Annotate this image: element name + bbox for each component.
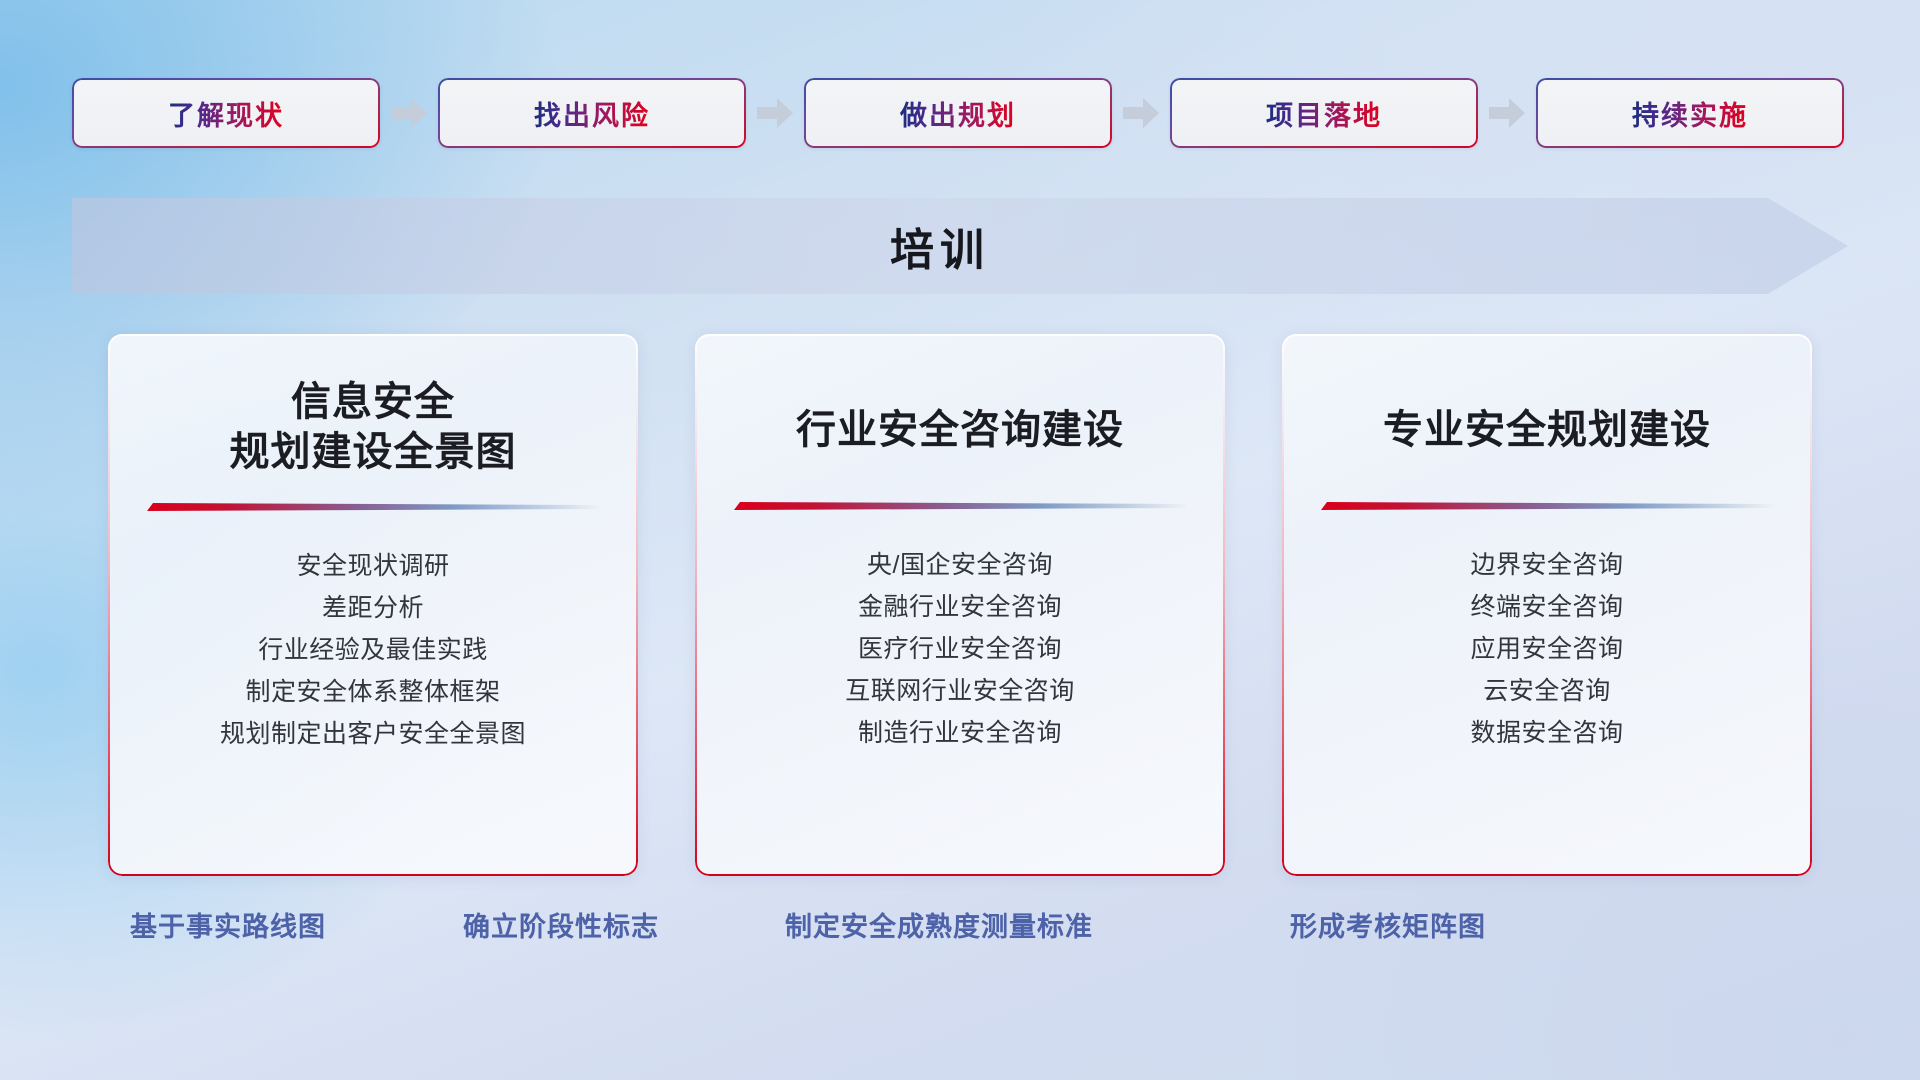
step-arrow-icon-1 [380,78,438,148]
list-item: 金融行业安全咨询 [729,586,1191,628]
slide-canvas: 了解现状 找出风险 做出规划 项目落地 [0,0,1920,1080]
step-arrow-icon-3 [1112,78,1170,148]
list-item: 边界安全咨询 [1316,544,1778,586]
step-label: 做出规划 [900,94,1016,133]
list-item: 云安全咨询 [1316,670,1778,712]
banner-title: 培训 [72,198,1848,294]
list-item: 制造行业安全咨询 [729,712,1191,754]
list-item: 差距分析 [142,587,604,629]
list-item: 行业经验及最佳实践 [142,629,604,671]
card-title: 专业安全规划建设 [1383,406,1711,456]
training-banner: 培训 [72,198,1848,294]
list-item: 制定安全体系整体框架 [142,671,604,713]
step-box-3[interactable]: 做出规划 [804,78,1112,148]
step-box-5[interactable]: 持续实施 [1536,78,1844,148]
list-item: 央/国企安全咨询 [729,544,1191,586]
footer-caption-1: 基于事实路线图 [130,905,326,944]
step-box-4[interactable]: 项目落地 [1170,78,1478,148]
card-3[interactable]: 专业安全规划建设 [1282,334,1812,876]
step-box-1[interactable]: 了解现状 [72,78,380,148]
footer-caption-3: 制定安全成熟度测量标准 [785,905,1093,944]
list-item: 医疗行业安全咨询 [729,628,1191,670]
card-title: 信息安全 规划建设全景图 [230,378,517,477]
list-item: 安全现状调研 [142,545,604,587]
list-item: 应用安全咨询 [1316,628,1778,670]
card-1[interactable]: 信息安全 规划建设全景图 [108,334,638,876]
step-label: 了解现状 [168,94,284,133]
card-row: 信息安全 规划建设全景图 [108,334,1812,876]
card-list: 央/国企安全咨询 金融行业安全咨询 医疗行业安全咨询 互联网行业安全咨询 制造行… [729,544,1191,754]
footer-caption-2: 确立阶段性标志 [463,905,659,944]
footer-caption-4: 形成考核矩阵图 [1290,905,1486,944]
step-label: 项目落地 [1266,94,1382,133]
step-arrow-icon-4 [1478,78,1536,148]
step-label: 持续实施 [1632,94,1748,133]
process-steps: 了解现状 找出风险 做出规划 项目落地 [72,78,1848,148]
card-divider [734,498,1186,514]
list-item: 互联网行业安全咨询 [729,670,1191,712]
list-item: 数据安全咨询 [1316,712,1778,754]
step-box-2[interactable]: 找出风险 [438,78,746,148]
card-divider [147,499,599,515]
card-2[interactable]: 行业安全咨询建设 [695,334,1225,876]
card-list: 安全现状调研 差距分析 行业经验及最佳实践 制定安全体系整体框架 规划制定出客户… [142,545,604,755]
footer-captions: 基于事实路线图 确立阶段性标志 制定安全成熟度测量标准 形成考核矩阵图 [0,905,1920,965]
list-item: 规划制定出客户安全全景图 [142,713,604,755]
card-list: 边界安全咨询 终端安全咨询 应用安全咨询 云安全咨询 数据安全咨询 [1316,544,1778,754]
card-title: 行业安全咨询建设 [796,406,1124,456]
list-item: 终端安全咨询 [1316,586,1778,628]
step-arrow-icon-2 [746,78,804,148]
card-divider [1321,498,1773,514]
step-label: 找出风险 [534,94,650,133]
